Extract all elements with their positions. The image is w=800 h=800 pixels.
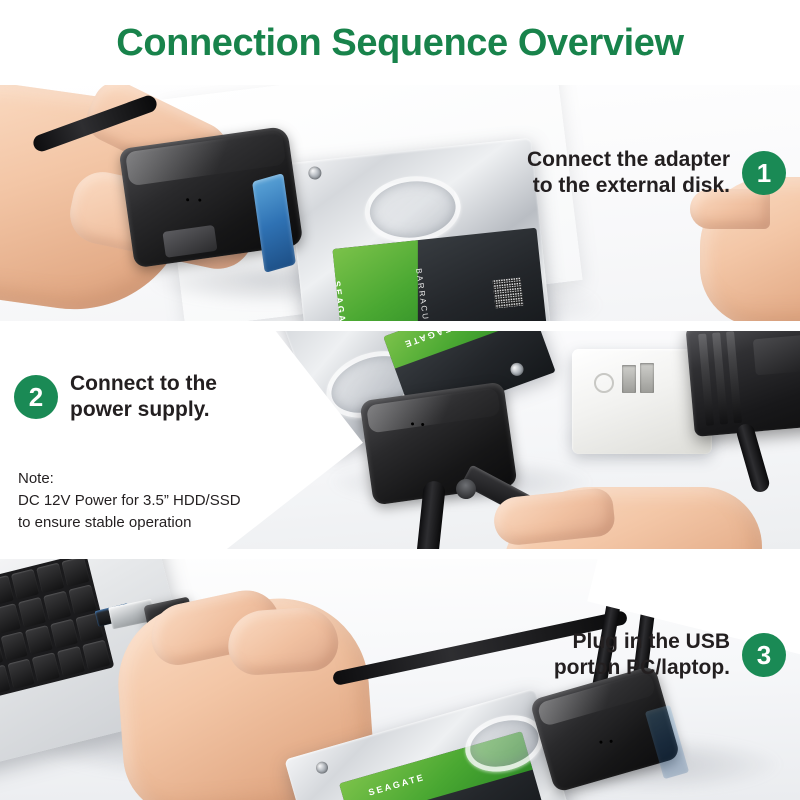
step-1-photo: SEAGATE BARRACUDA bbox=[0, 85, 800, 323]
title-bar: Connection Sequence Overview bbox=[0, 0, 800, 85]
hard-drive: SEAGATE BARRACUDA bbox=[287, 138, 552, 323]
step-2-note: Note: DC 12V Power for 3.5” HDD/SSD to e… bbox=[18, 468, 241, 533]
power-adapter-brick bbox=[685, 329, 800, 437]
panel-divider-2 bbox=[0, 549, 800, 559]
panel-divider-1 bbox=[0, 321, 800, 331]
page-title: Connection Sequence Overview bbox=[116, 24, 683, 62]
step-panel-3: SEAGATE Plug in the USB porton PC/laptop… bbox=[0, 557, 800, 800]
step-3-caption: Plug in the USB porton PC/laptop. 3 bbox=[554, 629, 786, 680]
step-2-badge: 2 bbox=[14, 375, 58, 419]
product-instruction-infographic: Connection Sequence Overview SEAGATE BAR… bbox=[0, 0, 800, 800]
step-2-caption: 2 Connect to the power supply. bbox=[14, 371, 217, 422]
step-3-badge: 3 bbox=[742, 633, 786, 677]
step-panel-1: SEAGATE BARRACUDA bbox=[0, 85, 800, 323]
step-3-text: Plug in the USB porton PC/laptop. bbox=[554, 629, 730, 680]
step-1-text: Connect the adapter to the external disk… bbox=[527, 147, 730, 198]
step-2-text: Connect to the power supply. bbox=[70, 371, 217, 422]
step-1-badge: 1 bbox=[742, 151, 786, 195]
step-1-caption: Connect the adapter to the external disk… bbox=[527, 147, 786, 198]
